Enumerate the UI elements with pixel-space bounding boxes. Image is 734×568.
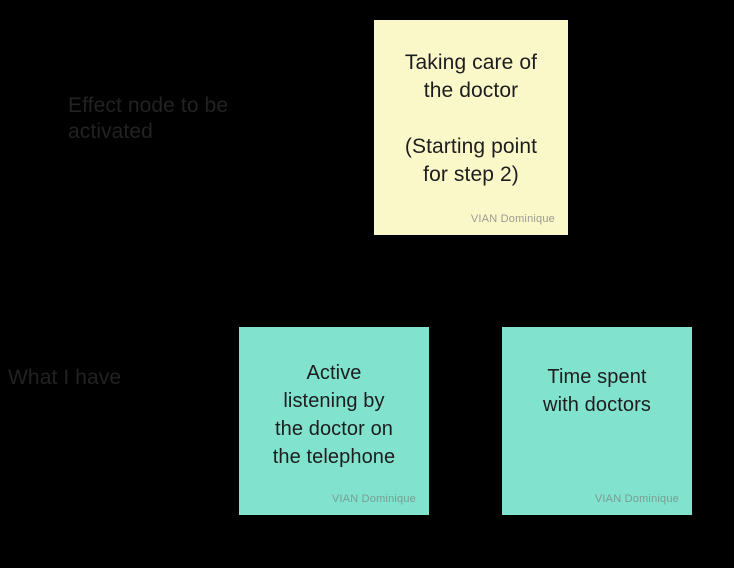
sticky-note-author: VIAN Dominique — [471, 212, 556, 227]
sticky-note-text: Active listening by the doctor on the te… — [251, 337, 417, 492]
row-label-effect-node: Effect node to be activated — [68, 93, 288, 145]
row-label-what-i-have: What I have — [8, 365, 238, 391]
sticky-note-author: VIAN Dominique — [332, 492, 417, 507]
sticky-note-active-listening[interactable]: Active listening by the doctor on the te… — [239, 327, 429, 515]
sticky-note-author: VIAN Dominique — [595, 492, 680, 507]
sticky-note-time-spent-with-doctors[interactable]: Time spent with doctors VIAN Dominique — [502, 327, 692, 515]
sticky-note-text: Time spent with doctors — [514, 337, 680, 492]
sticky-note-taking-care-of-the-doctor[interactable]: Taking care of the doctor (Starting poin… — [374, 20, 568, 235]
whiteboard-canvas[interactable]: Effect node to be activated What I have … — [0, 0, 734, 568]
sticky-note-text: Taking care of the doctor (Starting poin… — [386, 30, 556, 212]
